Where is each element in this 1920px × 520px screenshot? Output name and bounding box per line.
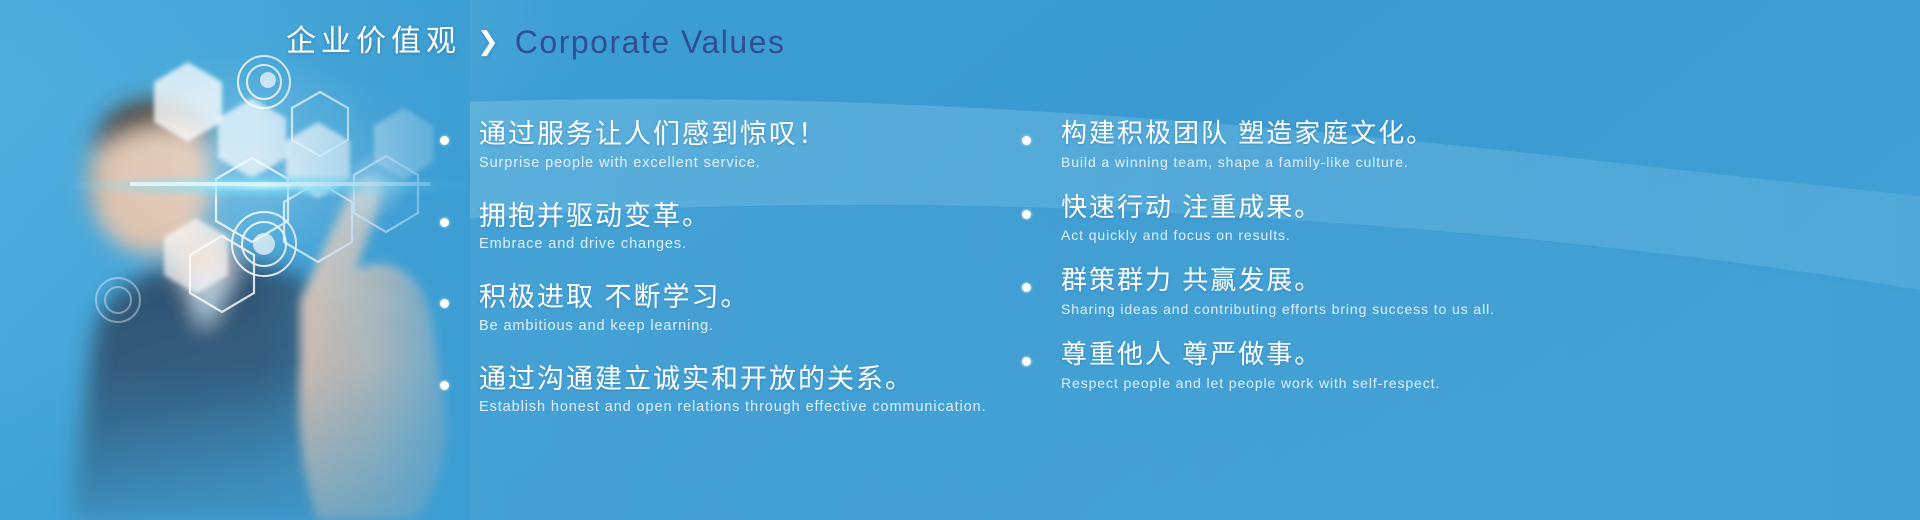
bullet-dot-icon	[440, 136, 449, 145]
value-item: 拥抱并驱动变革。 Embrace and drive changes.	[440, 200, 1060, 256]
bullet-dot-icon	[440, 218, 449, 227]
value-cn: 通过服务让人们感到惊叹！	[479, 118, 1060, 151]
value-item: 快速行动 注重成果。 Act quickly and focus on resu…	[1022, 192, 1902, 246]
value-en: Sharing ideas and contributing efforts b…	[1061, 300, 1902, 319]
hero-photo	[0, 0, 470, 520]
bullet-dot-icon	[1022, 210, 1031, 219]
page-title-en: Corporate Values	[515, 26, 786, 58]
value-cn: 群策群力 共赢发展。	[1061, 265, 1902, 297]
value-cn: 通过沟通建立诚实和开放的关系。	[479, 363, 1060, 396]
value-text: 通过服务让人们感到惊叹！ Surprise people with excell…	[479, 118, 1060, 174]
value-cn: 积极进取 不断学习。	[479, 281, 1060, 314]
value-text: 尊重他人 尊严做事。 Respect people and let people…	[1061, 339, 1902, 393]
value-item: 积极进取 不断学习。 Be ambitious and keep learnin…	[440, 281, 1060, 337]
value-item: 群策群力 共赢发展。 Sharing ideas and contributin…	[1022, 265, 1902, 319]
value-text: 快速行动 注重成果。 Act quickly and focus on resu…	[1061, 192, 1902, 246]
value-en: Embrace and drive changes.	[479, 235, 1060, 255]
page-title-cn: 企业价值观	[286, 27, 461, 57]
bullet-dot-icon	[440, 299, 449, 308]
value-item: 构建积极团队 塑造家庭文化。 Build a winning team, sha…	[1022, 118, 1902, 172]
value-text: 群策群力 共赢发展。 Sharing ideas and contributin…	[1061, 265, 1902, 319]
value-item: 尊重他人 尊严做事。 Respect people and let people…	[1022, 339, 1902, 393]
bullet-dot-icon	[440, 381, 449, 390]
value-en: Surprise people with excellent service.	[479, 154, 1060, 174]
value-text: 通过沟通建立诚实和开放的关系。 Establish honest and ope…	[479, 363, 1060, 419]
values-column-left: 通过服务让人们感到惊叹！ Surprise people with excell…	[440, 118, 1060, 444]
values-column-right: 构建积极团队 塑造家庭文化。 Build a winning team, sha…	[1022, 118, 1902, 412]
value-en: Build a winning team, shape a family-lik…	[1061, 153, 1902, 172]
value-text: 构建积极团队 塑造家庭文化。 Build a winning team, sha…	[1061, 118, 1902, 172]
value-item: 通过服务让人们感到惊叹！ Surprise people with excell…	[440, 118, 1060, 174]
bullet-dot-icon	[1022, 357, 1031, 366]
bullet-dot-icon	[1022, 283, 1031, 292]
value-cn: 尊重他人 尊严做事。	[1061, 339, 1902, 371]
value-text: 积极进取 不断学习。 Be ambitious and keep learnin…	[479, 281, 1060, 337]
page-title: 企业价值观 ❯ Corporate Values	[286, 26, 785, 58]
value-en: Establish honest and open relations thro…	[479, 398, 1060, 418]
value-en: Be ambitious and keep learning.	[479, 317, 1060, 337]
value-en: Respect people and let people work with …	[1061, 374, 1902, 393]
chevron-right-icon: ❯	[477, 28, 499, 54]
value-en: Act quickly and focus on results.	[1061, 226, 1902, 245]
corporate-values-banner: 企业价值观 ❯ Corporate Values 通过服务让人们感到惊叹！ Su…	[0, 0, 1920, 520]
value-text: 拥抱并驱动变革。 Embrace and drive changes.	[479, 200, 1060, 256]
bullet-dot-icon	[1022, 136, 1031, 145]
value-item: 通过沟通建立诚实和开放的关系。 Establish honest and ope…	[440, 363, 1060, 419]
value-cn: 构建积极团队 塑造家庭文化。	[1061, 118, 1902, 150]
value-cn: 快速行动 注重成果。	[1061, 192, 1902, 224]
value-cn: 拥抱并驱动变革。	[479, 200, 1060, 233]
